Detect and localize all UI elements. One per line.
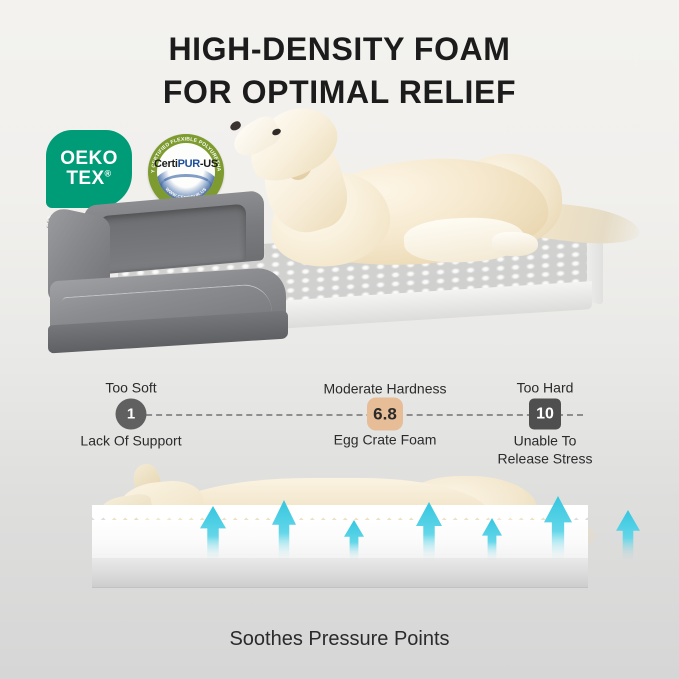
- pressure-foam-slab: [92, 514, 588, 592]
- scale-top-label-3: Too Hard: [517, 380, 574, 396]
- scale-point-moderate: Moderate Hardness 6.8 Egg Crate Foam: [367, 398, 403, 431]
- scale-bottom-label-2: Egg Crate Foam: [334, 432, 437, 450]
- pressure-caption: Soothes Pressure Points: [0, 628, 679, 651]
- scale-point-too-soft: Too Soft 1 Lack Of Support: [116, 399, 147, 430]
- pressure-foam-zigzag-texture: [92, 505, 588, 523]
- scale-point-too-hard: Too Hard 10 Unable ToRelease Stress: [529, 399, 561, 430]
- firmness-scale: Too Soft 1 Lack Of Support Moderate Hard…: [0, 378, 679, 470]
- pressure-foam-front-edge: [92, 558, 588, 588]
- pressure-arrow-icon-7: [616, 510, 640, 562]
- pressure-foam-body: [92, 520, 588, 560]
- scale-dashed-track: [116, 414, 583, 416]
- dog-photo: [218, 114, 638, 314]
- product-photo: [0, 120, 679, 370]
- scale-bottom-label-1: Lack Of Support: [80, 433, 181, 451]
- headline-line-1: HIGH-DENSITY FOAM: [0, 28, 679, 71]
- pressure-points-illustration: [0, 462, 679, 622]
- page-title: HIGH-DENSITY FOAM FOR OPTIMAL RELIEF: [0, 28, 679, 113]
- scale-marker-1: 1: [116, 399, 147, 430]
- scale-marker-3: 10: [529, 399, 561, 430]
- scale-top-label-2: Moderate Hardness: [324, 381, 447, 397]
- dog-paw: [492, 232, 538, 256]
- certipur-brand-text: CertiPUR-US: [148, 158, 224, 170]
- scale-marker-2: 6.8: [367, 398, 403, 431]
- scale-top-label-1: Too Soft: [105, 380, 156, 396]
- headline-line-2: FOR OPTIMAL RELIEF: [0, 71, 679, 114]
